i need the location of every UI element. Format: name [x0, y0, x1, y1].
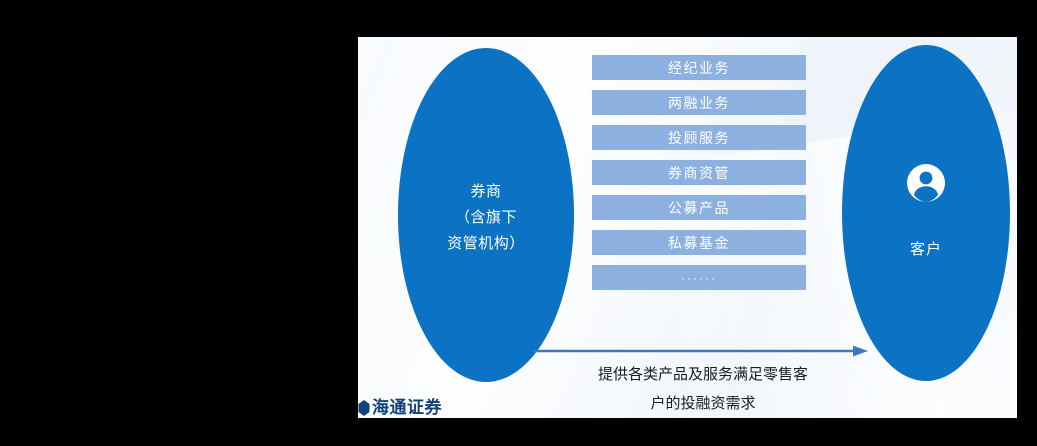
product-bar-label: 投顾服务 — [668, 128, 730, 148]
broker-line-2: （含旗下 — [447, 205, 525, 231]
customer-node-label: 客户 — [910, 237, 942, 263]
flow-arrow-icon — [533, 345, 868, 357]
broker-line-1: 券商 — [447, 179, 525, 205]
product-bar-label: 私募基金 — [668, 233, 730, 253]
brand-mark-icon — [358, 400, 370, 416]
product-bar-public-funds[interactable]: 公募产品 — [592, 195, 806, 220]
product-bar-label: ······ — [681, 271, 717, 285]
screenshot-canvas: 券商 （含旗下 资管机构） 经纪业务 两融业务 投顾服务 券商资管 公募产品 — [0, 0, 1037, 446]
flow-caption: 提供各类产品及服务满足零售客 户的投融资需求 — [508, 360, 898, 418]
brand-name: 海通证券 — [372, 399, 442, 416]
product-bar-advisory[interactable]: 投顾服务 — [592, 125, 806, 150]
slide-panel: 券商 （含旗下 资管机构） 经纪业务 两融业务 投顾服务 券商资管 公募产品 — [358, 37, 1017, 418]
product-bar-brokerage[interactable]: 经纪业务 — [592, 55, 806, 80]
product-bar-label: 两融业务 — [668, 93, 730, 113]
product-bar-label: 经纪业务 — [668, 58, 730, 78]
product-bar-more[interactable]: ······ — [592, 265, 806, 290]
broker-line-3: 资管机构） — [447, 231, 525, 257]
brand-logo: 海通证券 — [358, 399, 442, 416]
product-bar-asset-management[interactable]: 券商资管 — [592, 160, 806, 185]
broker-node-text: 券商 （含旗下 资管机构） — [447, 179, 525, 257]
product-bar-margin-financing[interactable]: 两融业务 — [592, 90, 806, 115]
customer-node[interactable]: 客户 — [842, 45, 1010, 381]
product-bar-label: 券商资管 — [668, 163, 730, 183]
broker-node[interactable]: 券商 （含旗下 资管机构） — [398, 48, 574, 382]
flow-caption-line-1: 提供各类产品及服务满足零售客 — [508, 360, 898, 389]
flow-caption-line-2: 户的投融资需求 — [508, 389, 898, 418]
product-bar-label: 公募产品 — [668, 198, 730, 218]
person-icon — [906, 163, 946, 203]
product-bar-private-funds[interactable]: 私募基金 — [592, 230, 806, 255]
product-bar-list: 经纪业务 两融业务 投顾服务 券商资管 公募产品 私募基金 ······ — [592, 55, 806, 300]
